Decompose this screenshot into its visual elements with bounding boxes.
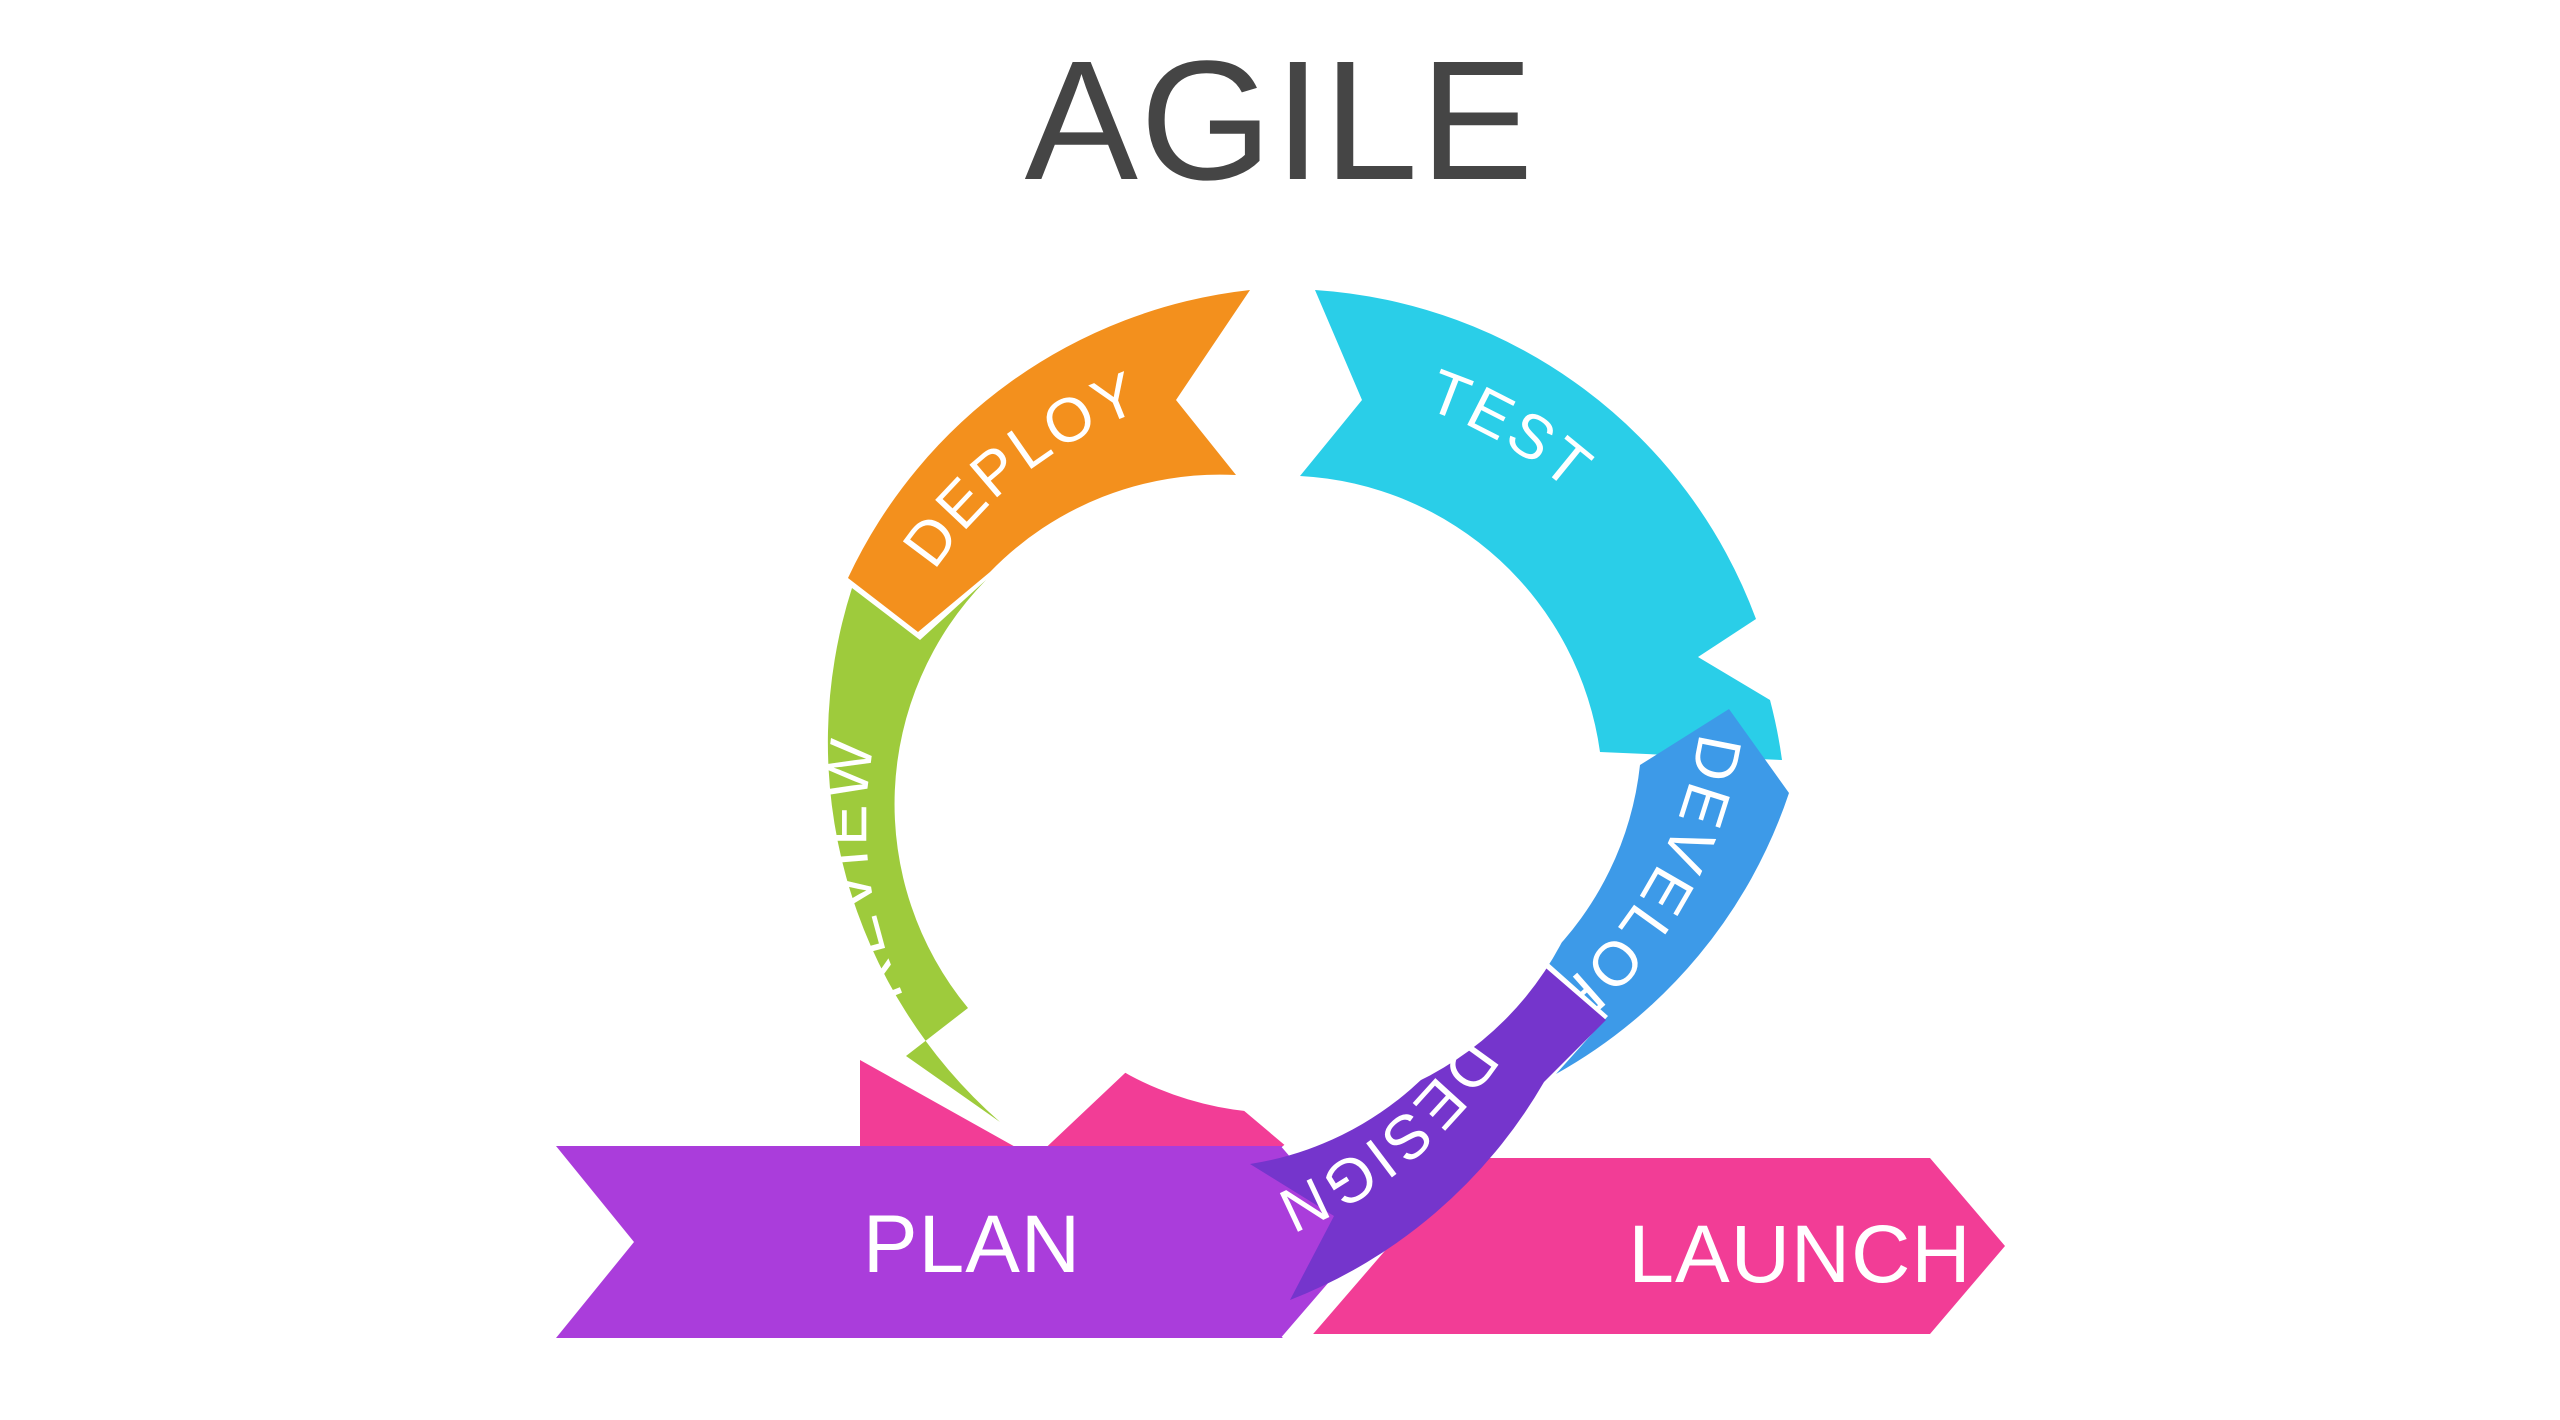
banner-arrow-launch-label: LAUNCH [1628,1209,1971,1300]
banner-arrow-plan[interactable]: PLAN [556,1146,1370,1338]
diagram-hub [962,477,1598,1113]
agile-diagram-canvas: AGILE LAUNCH PLAN TEST [0,0,2560,1420]
banner-arrow-plan-label: PLAN [863,1199,1081,1290]
agile-cycle-diagram: LAUNCH PLAN TEST DEVELOP [0,0,2560,1420]
